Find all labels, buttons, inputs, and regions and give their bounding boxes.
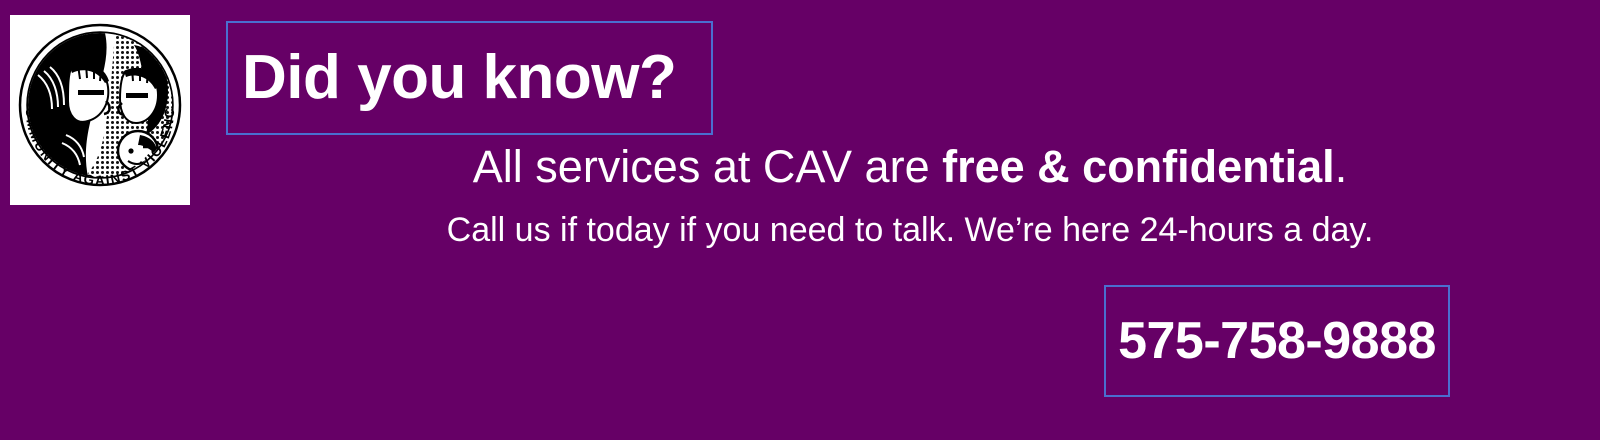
call-to-action-line: Call us if today if you need to talk. We… [300,208,1520,252]
headline-box: Did you know? [226,21,713,135]
phone-number-text: 575-758-9888 [1118,315,1436,367]
awareness-banner: COMMUNITY AGAINST VIOLENCE Did you know?… [0,0,1600,440]
message-block: All services at CAV are free & confident… [300,140,1520,252]
services-line-trail: . [1335,141,1348,192]
services-line-emphasis: free & confidential [942,141,1335,192]
cav-logo: COMMUNITY AGAINST VIOLENCE [10,15,190,205]
services-line: All services at CAV are free & confident… [300,140,1520,195]
headline-text: Did you know? [242,47,676,109]
services-line-lead: All services at CAV are [473,141,942,192]
cav-logo-illustration: COMMUNITY AGAINST VIOLENCE [10,15,190,205]
phone-number-box[interactable]: 575-758-9888 [1104,285,1450,397]
